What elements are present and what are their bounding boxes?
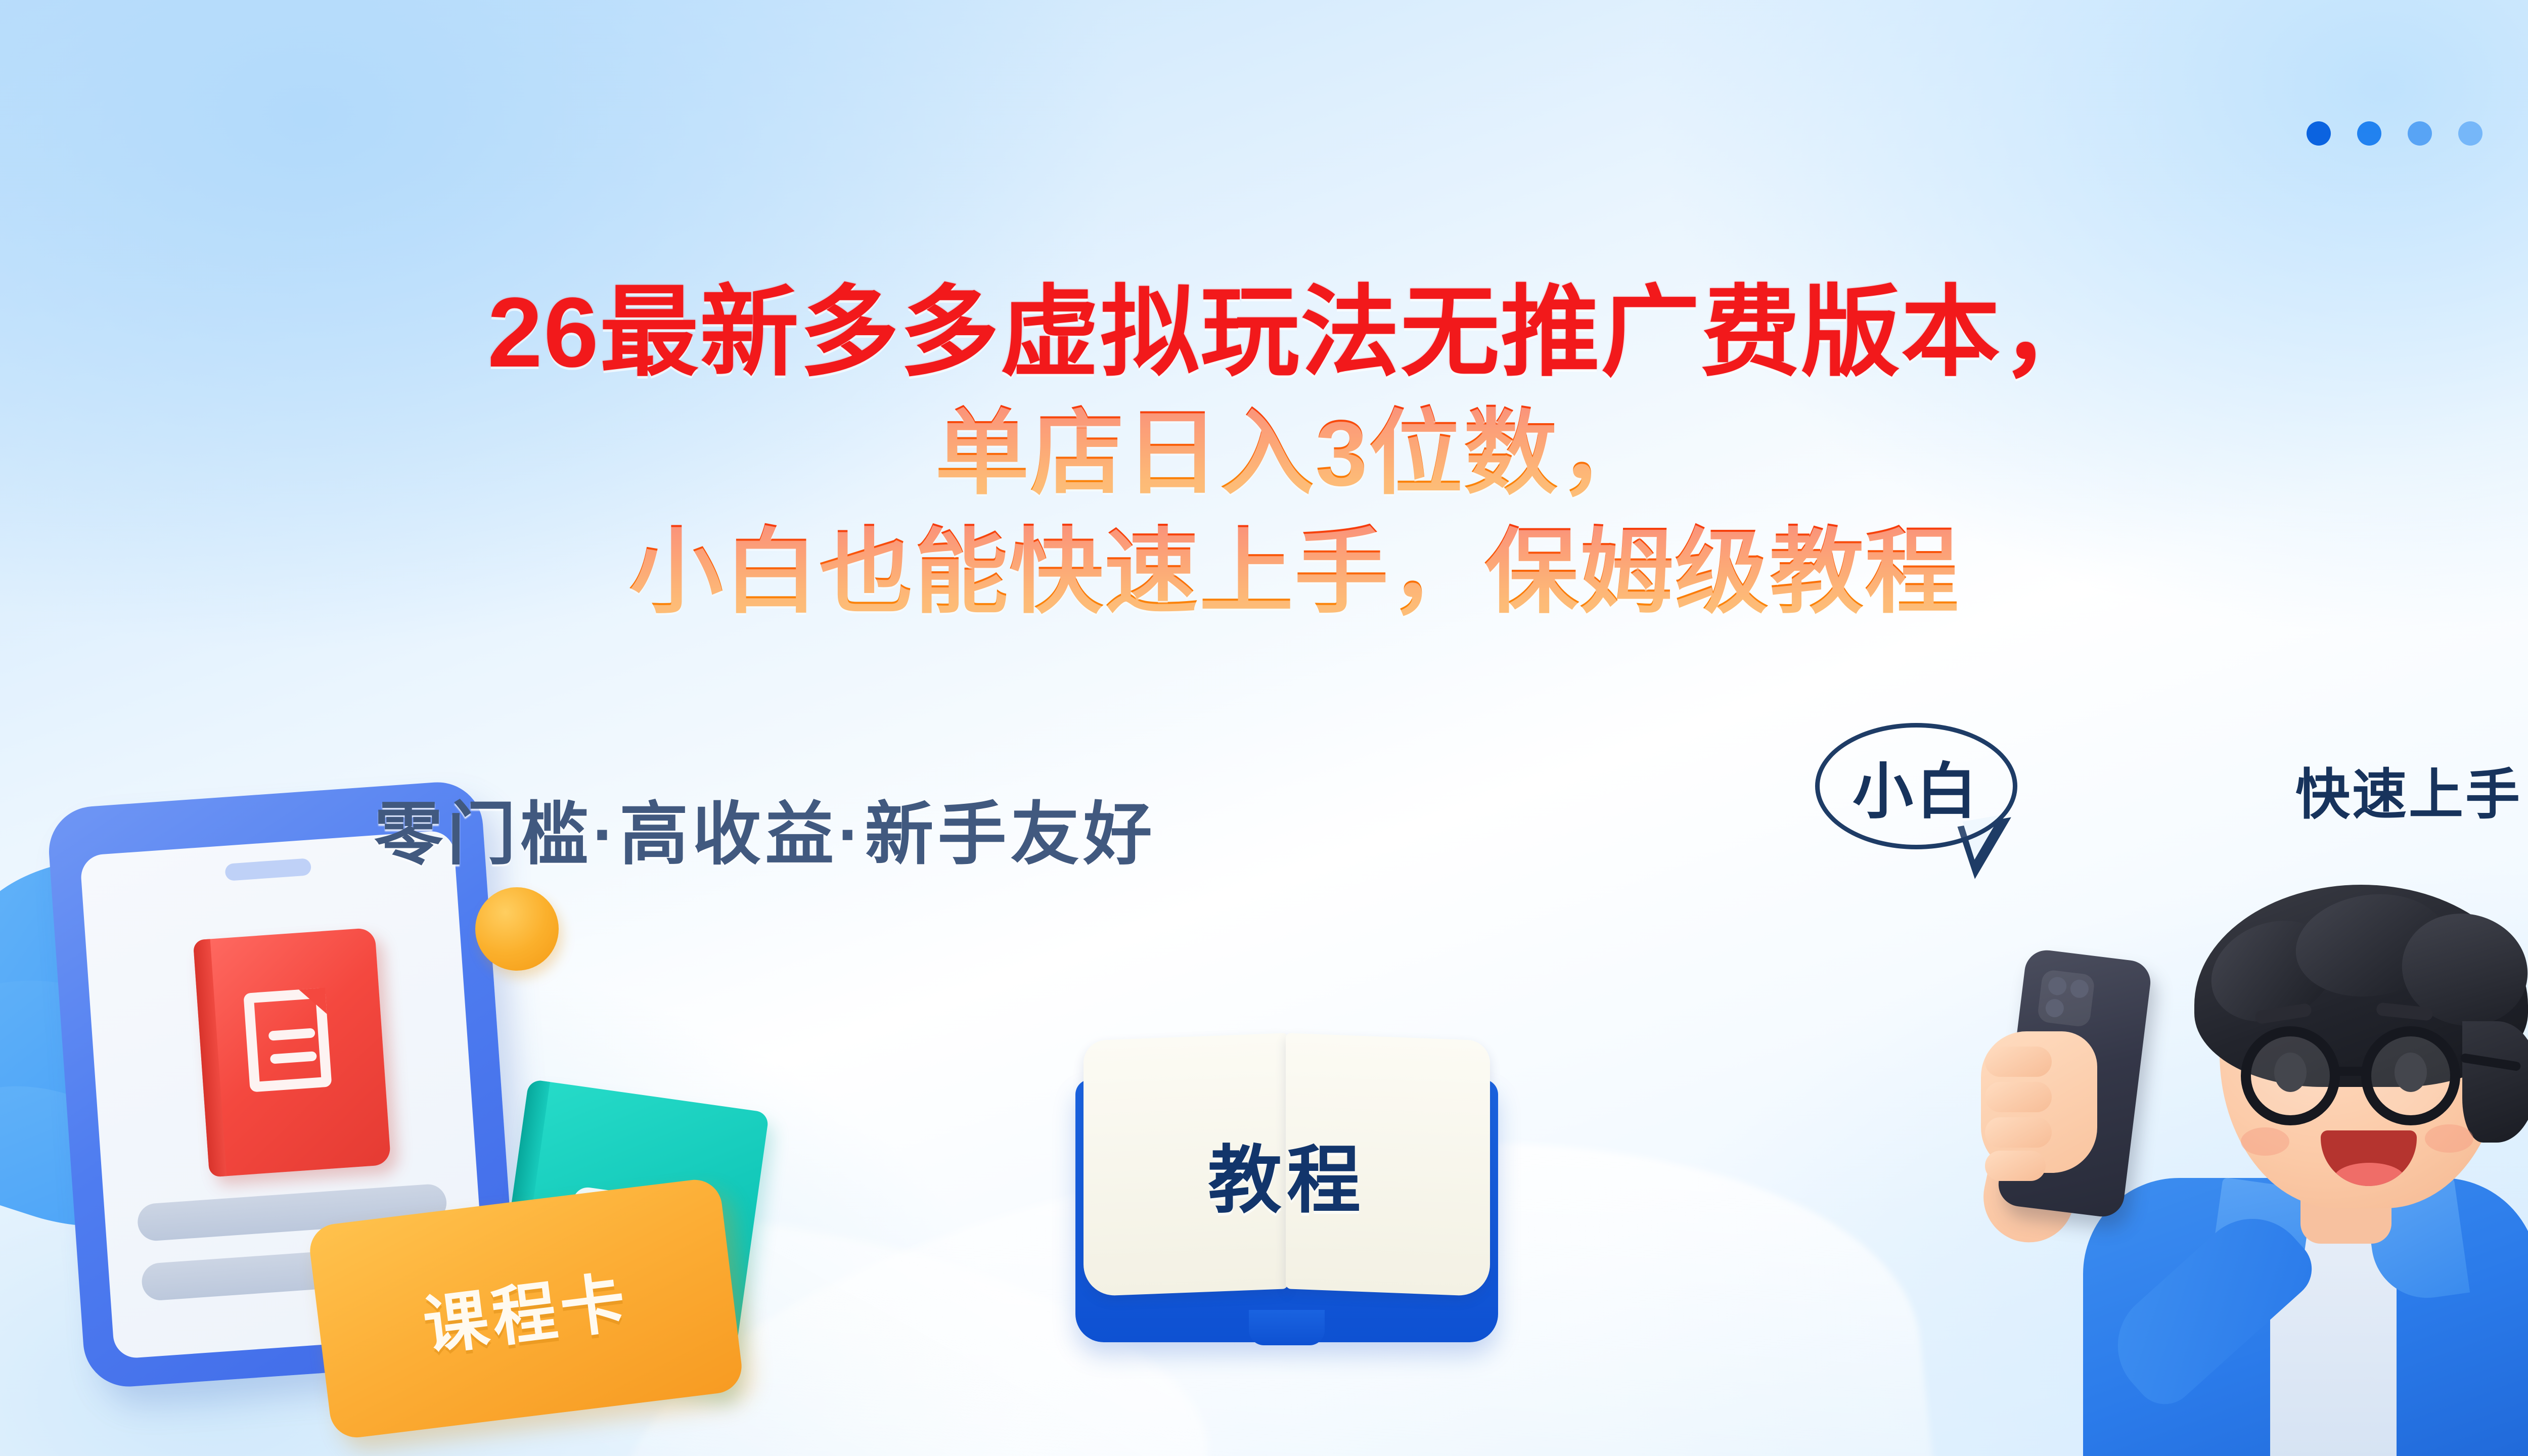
speech-bubble-label: 小白	[1853, 742, 1980, 830]
phone-camera-lens-2	[2069, 979, 2090, 999]
character-cheek-left	[2241, 1127, 2289, 1156]
pagination-dot-1[interactable]	[2307, 121, 2331, 146]
headline-block: 26最新多多虚拟玩法无推广费版本， 单店日入3位数， 小白也能快速上手，保姆级教…	[0, 273, 2528, 629]
pagination-dots[interactable]	[2307, 121, 2482, 146]
phone-camera-lens-3	[2045, 998, 2065, 1018]
pagination-dot-3[interactable]	[2408, 121, 2432, 146]
headline-line-1: 26最新多多虚拟玩法无推广费版本，	[0, 273, 2528, 392]
character-illustration	[1866, 829, 2528, 1456]
character-mouth	[2321, 1130, 2417, 1186]
speech-bubble: 小白	[1815, 723, 2017, 849]
character-finger-1	[1985, 1046, 2052, 1077]
pagination-dot-4[interactable]	[2458, 121, 2482, 146]
course-card-label: 课程卡	[418, 1250, 634, 1368]
book-label: 教程	[1064, 1121, 1509, 1227]
headline-line-3: 小白也能快速上手，保姆级教程	[0, 516, 2528, 628]
headline-line-2: 单店日入3位数，	[0, 397, 2528, 510]
glasses-lens-right	[2361, 1026, 2460, 1125]
character-finger-4	[1985, 1151, 2046, 1181]
character-finger-3	[1985, 1117, 2052, 1148]
document-line-1	[268, 1028, 315, 1040]
phone-camera-module	[2037, 969, 2095, 1028]
quick-tip-text: 快速上手	[2295, 751, 2522, 830]
red-book-icon	[193, 928, 391, 1177]
subtitle-text: 零门槛·高收益·新手友好	[374, 779, 1156, 878]
pagination-dot-2[interactable]	[2357, 121, 2381, 146]
promo-banner: 26最新多多虚拟玩法无推广费版本， 单店日入3位数， 小白也能快速上手，保姆级教…	[0, 0, 2528, 1456]
tablet-speaker-notch	[224, 858, 311, 881]
character-finger-2	[1985, 1082, 2052, 1112]
document-line-2	[270, 1051, 317, 1064]
character-cheek-right	[2425, 1124, 2473, 1153]
glasses-lens-left	[2241, 1026, 2340, 1125]
open-book-icon: 教程	[1064, 1004, 1509, 1357]
orange-sphere-decoration	[475, 887, 559, 971]
glasses-bridge	[2336, 1067, 2367, 1076]
character-sideburn	[2462, 1021, 2528, 1143]
phone-camera-lens-1	[2047, 976, 2067, 996]
document-icon	[243, 988, 332, 1093]
